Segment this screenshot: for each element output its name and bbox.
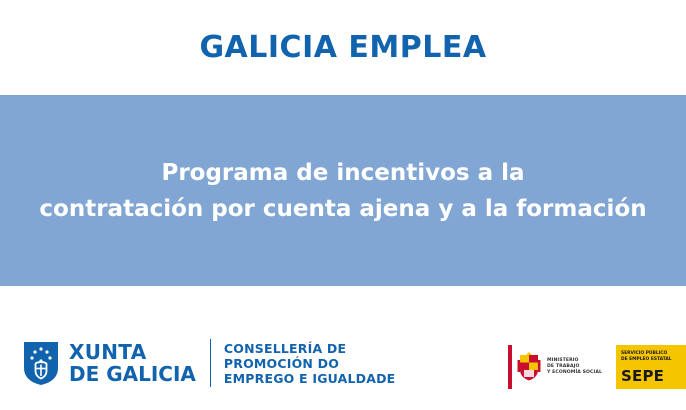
logo-divider — [210, 339, 211, 387]
xunta-wordmark: XUNTA DE GALICIA — [69, 341, 196, 385]
conselleria-line-3: EMPREGO E IGUALDADE — [224, 371, 396, 386]
conselleria-line-2: PROMOCIÓN DO — [224, 356, 396, 371]
sepe-description: SERVICIO PÚBLICO DE EMPLEO ESTATAL — [621, 351, 672, 362]
ministerio-text: MINISTERIO DE TRABAJO Y ECONOMÍA SOCIAL — [547, 358, 602, 376]
spain-coat-of-arms-icon — [516, 351, 542, 383]
xunta-wordmark-line-2: DE GALICIA — [69, 363, 196, 385]
banner-subtitle-line-1: Programa de incentivos a la — [0, 155, 686, 191]
conselleria-text: CONSELLERÍA DE PROMOCIÓN DO EMPREGO E IG… — [224, 341, 396, 386]
sepe-block: SERVICIO PÚBLICO DE EMPLEO ESTATAL SEPE — [616, 345, 686, 389]
sepe-line-1: SERVICIO PÚBLICO — [621, 351, 672, 357]
poster: GALICIA EMPLEA Programa de incentivos a … — [0, 0, 686, 410]
conselleria-line-1: CONSELLERÍA DE — [224, 341, 396, 356]
top-title-band: GALICIA EMPLEA — [0, 0, 686, 95]
sepe-line-2: DE EMPLEO ESTATAL — [621, 357, 672, 363]
banner-subtitle-line-2: contratación por cuenta ajena y a la for… — [0, 191, 686, 227]
ministerio-block: MINISTERIO DE TRABAJO Y ECONOMÍA SOCIAL — [508, 345, 616, 389]
ministerio-line-3: Y ECONOMÍA SOCIAL — [547, 370, 602, 376]
sepe-acronym: SEPE — [621, 367, 664, 385]
xunta-de-galicia-logo: XUNTA DE GALICIA CONSELLERÍA DE PROMOCIÓ… — [22, 339, 395, 387]
gobierno-de-espana-logo: MINISTERIO DE TRABAJO Y ECONOMÍA SOCIAL … — [508, 345, 686, 389]
blue-banner: Programa de incentivos a la contratación… — [0, 95, 686, 286]
xunta-shield-icon — [22, 340, 60, 386]
footer-logos: XUNTA DE GALICIA CONSELLERÍA DE PROMOCIÓ… — [0, 286, 686, 410]
xunta-wordmark-line-1: XUNTA — [69, 341, 196, 363]
page-title: GALICIA EMPLEA — [0, 30, 686, 65]
banner-subtitle: Programa de incentivos a la contratación… — [0, 155, 686, 227]
